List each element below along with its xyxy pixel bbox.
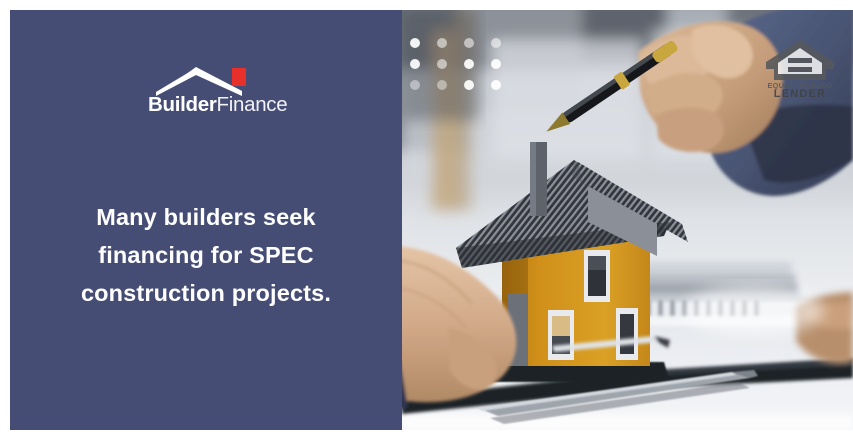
dot-grid-icon [410,38,510,96]
headline: Many builders seek financing for SPEC co… [10,198,402,312]
brand-name-light: Finance [217,93,288,116]
brand-wordmark: BuilderFinance [148,92,298,118]
headline-line-1: Many builders seek [10,198,402,236]
brand-name-bold: Builder [148,93,217,116]
headline-line-2: financing for SPEC [10,236,402,274]
equal-housing-line2: LENDER [774,88,826,98]
equal-housing-lender-icon: EQUAL HOUSING LENDER [764,36,836,98]
photo-desk-model-house: EQUAL HOUSING LENDER [402,10,853,430]
left-navy-panel: BuilderFinance Many builders seek financ… [10,10,402,430]
headline-line-3: construction projects. [10,274,402,312]
builder-finance-logo[interactable]: BuilderFinance [148,66,298,122]
marketing-banner: BuilderFinance Many builders seek financ… [0,0,853,448]
